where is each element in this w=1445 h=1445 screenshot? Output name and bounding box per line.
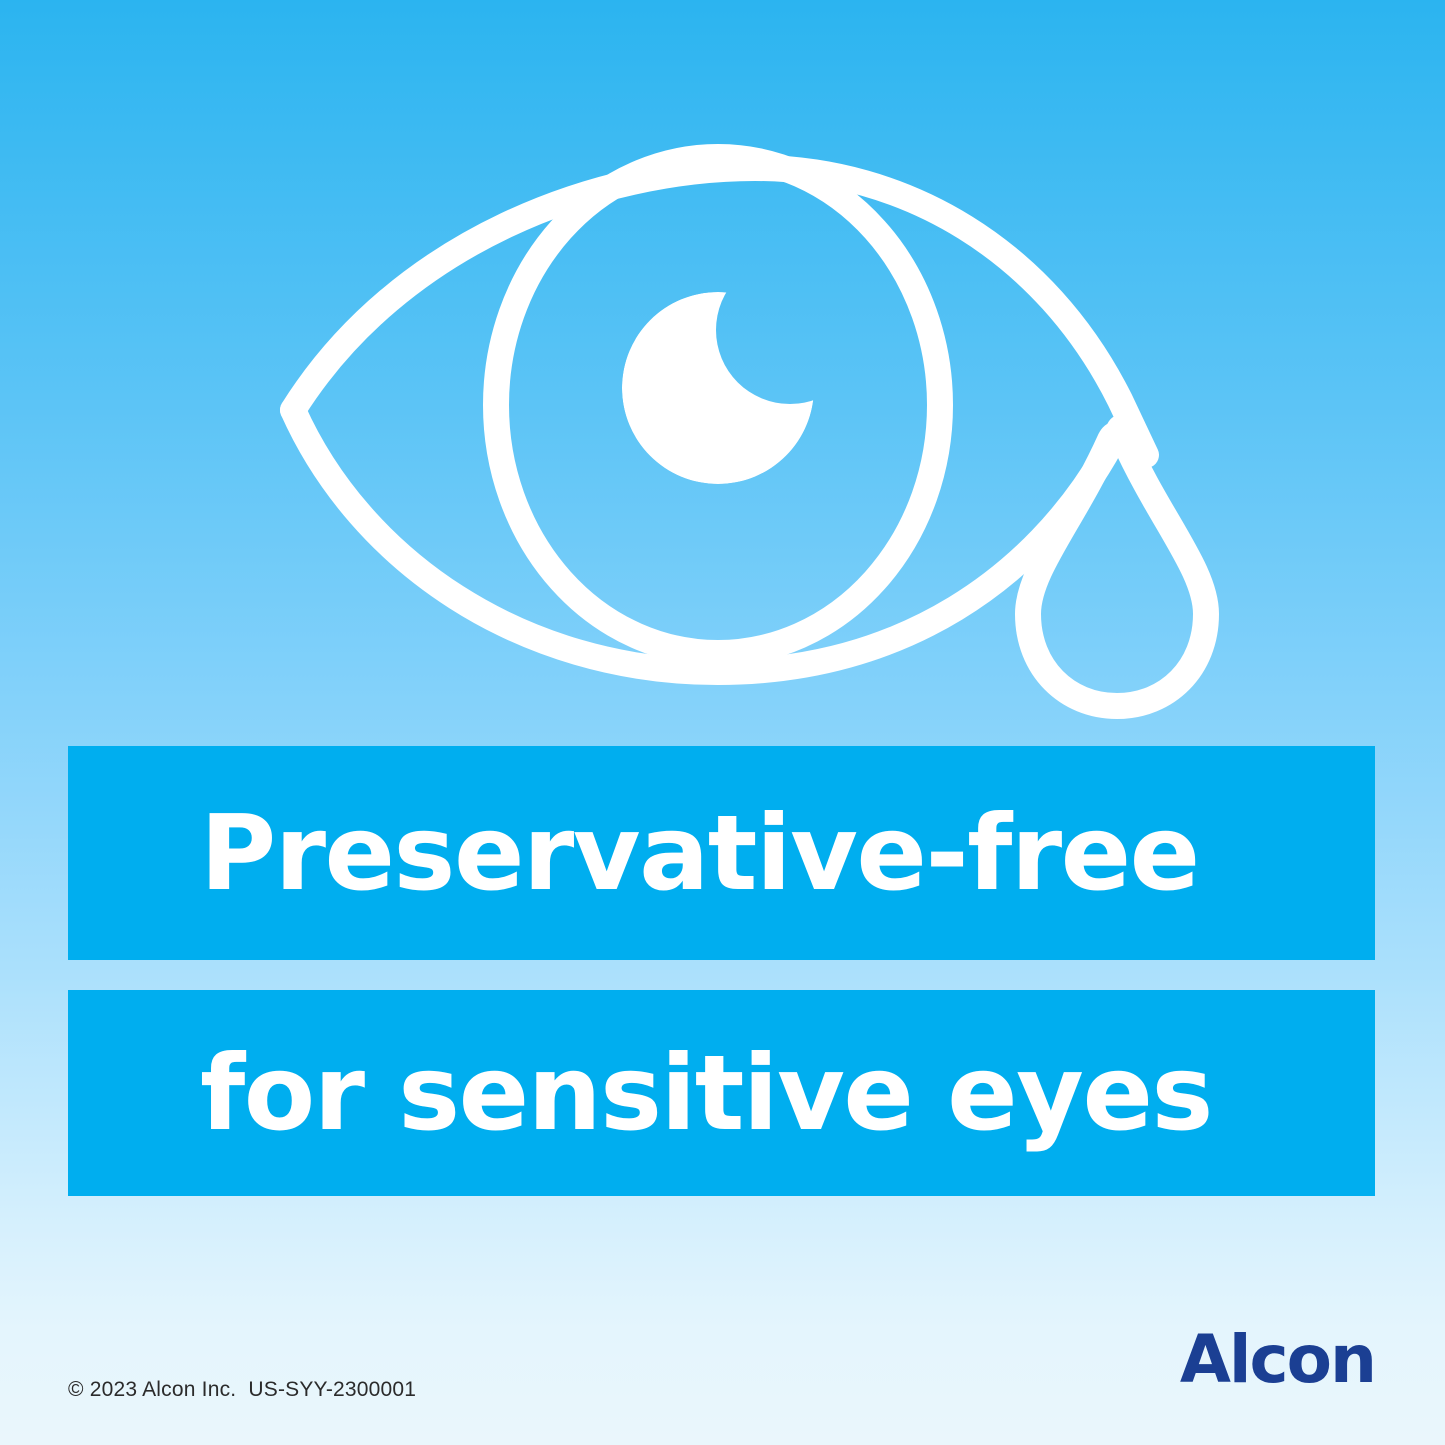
- eye-with-teardrop-icon: [0, 0, 1445, 1445]
- pupil-crescent: [622, 292, 814, 484]
- teardrop-outline: [1028, 434, 1206, 706]
- banner-primary-label: Preservative-free: [200, 801, 1199, 905]
- alcon-logo-wordmark: Alcon: [1170, 1326, 1375, 1394]
- banner-preservative-free: Preservative-free: [68, 746, 1375, 960]
- ad-canvas: Preservative-free for sensitive eyes © 2…: [0, 0, 1445, 1445]
- copyright-notice: © 2023 Alcon Inc. US-SYY-2300001: [68, 1378, 416, 1402]
- banner-secondary-label: for sensitive eyes: [200, 1041, 1212, 1145]
- alcon-logo: Alcon: [1170, 1326, 1375, 1394]
- banner-for-sensitive-eyes: for sensitive eyes: [68, 990, 1375, 1196]
